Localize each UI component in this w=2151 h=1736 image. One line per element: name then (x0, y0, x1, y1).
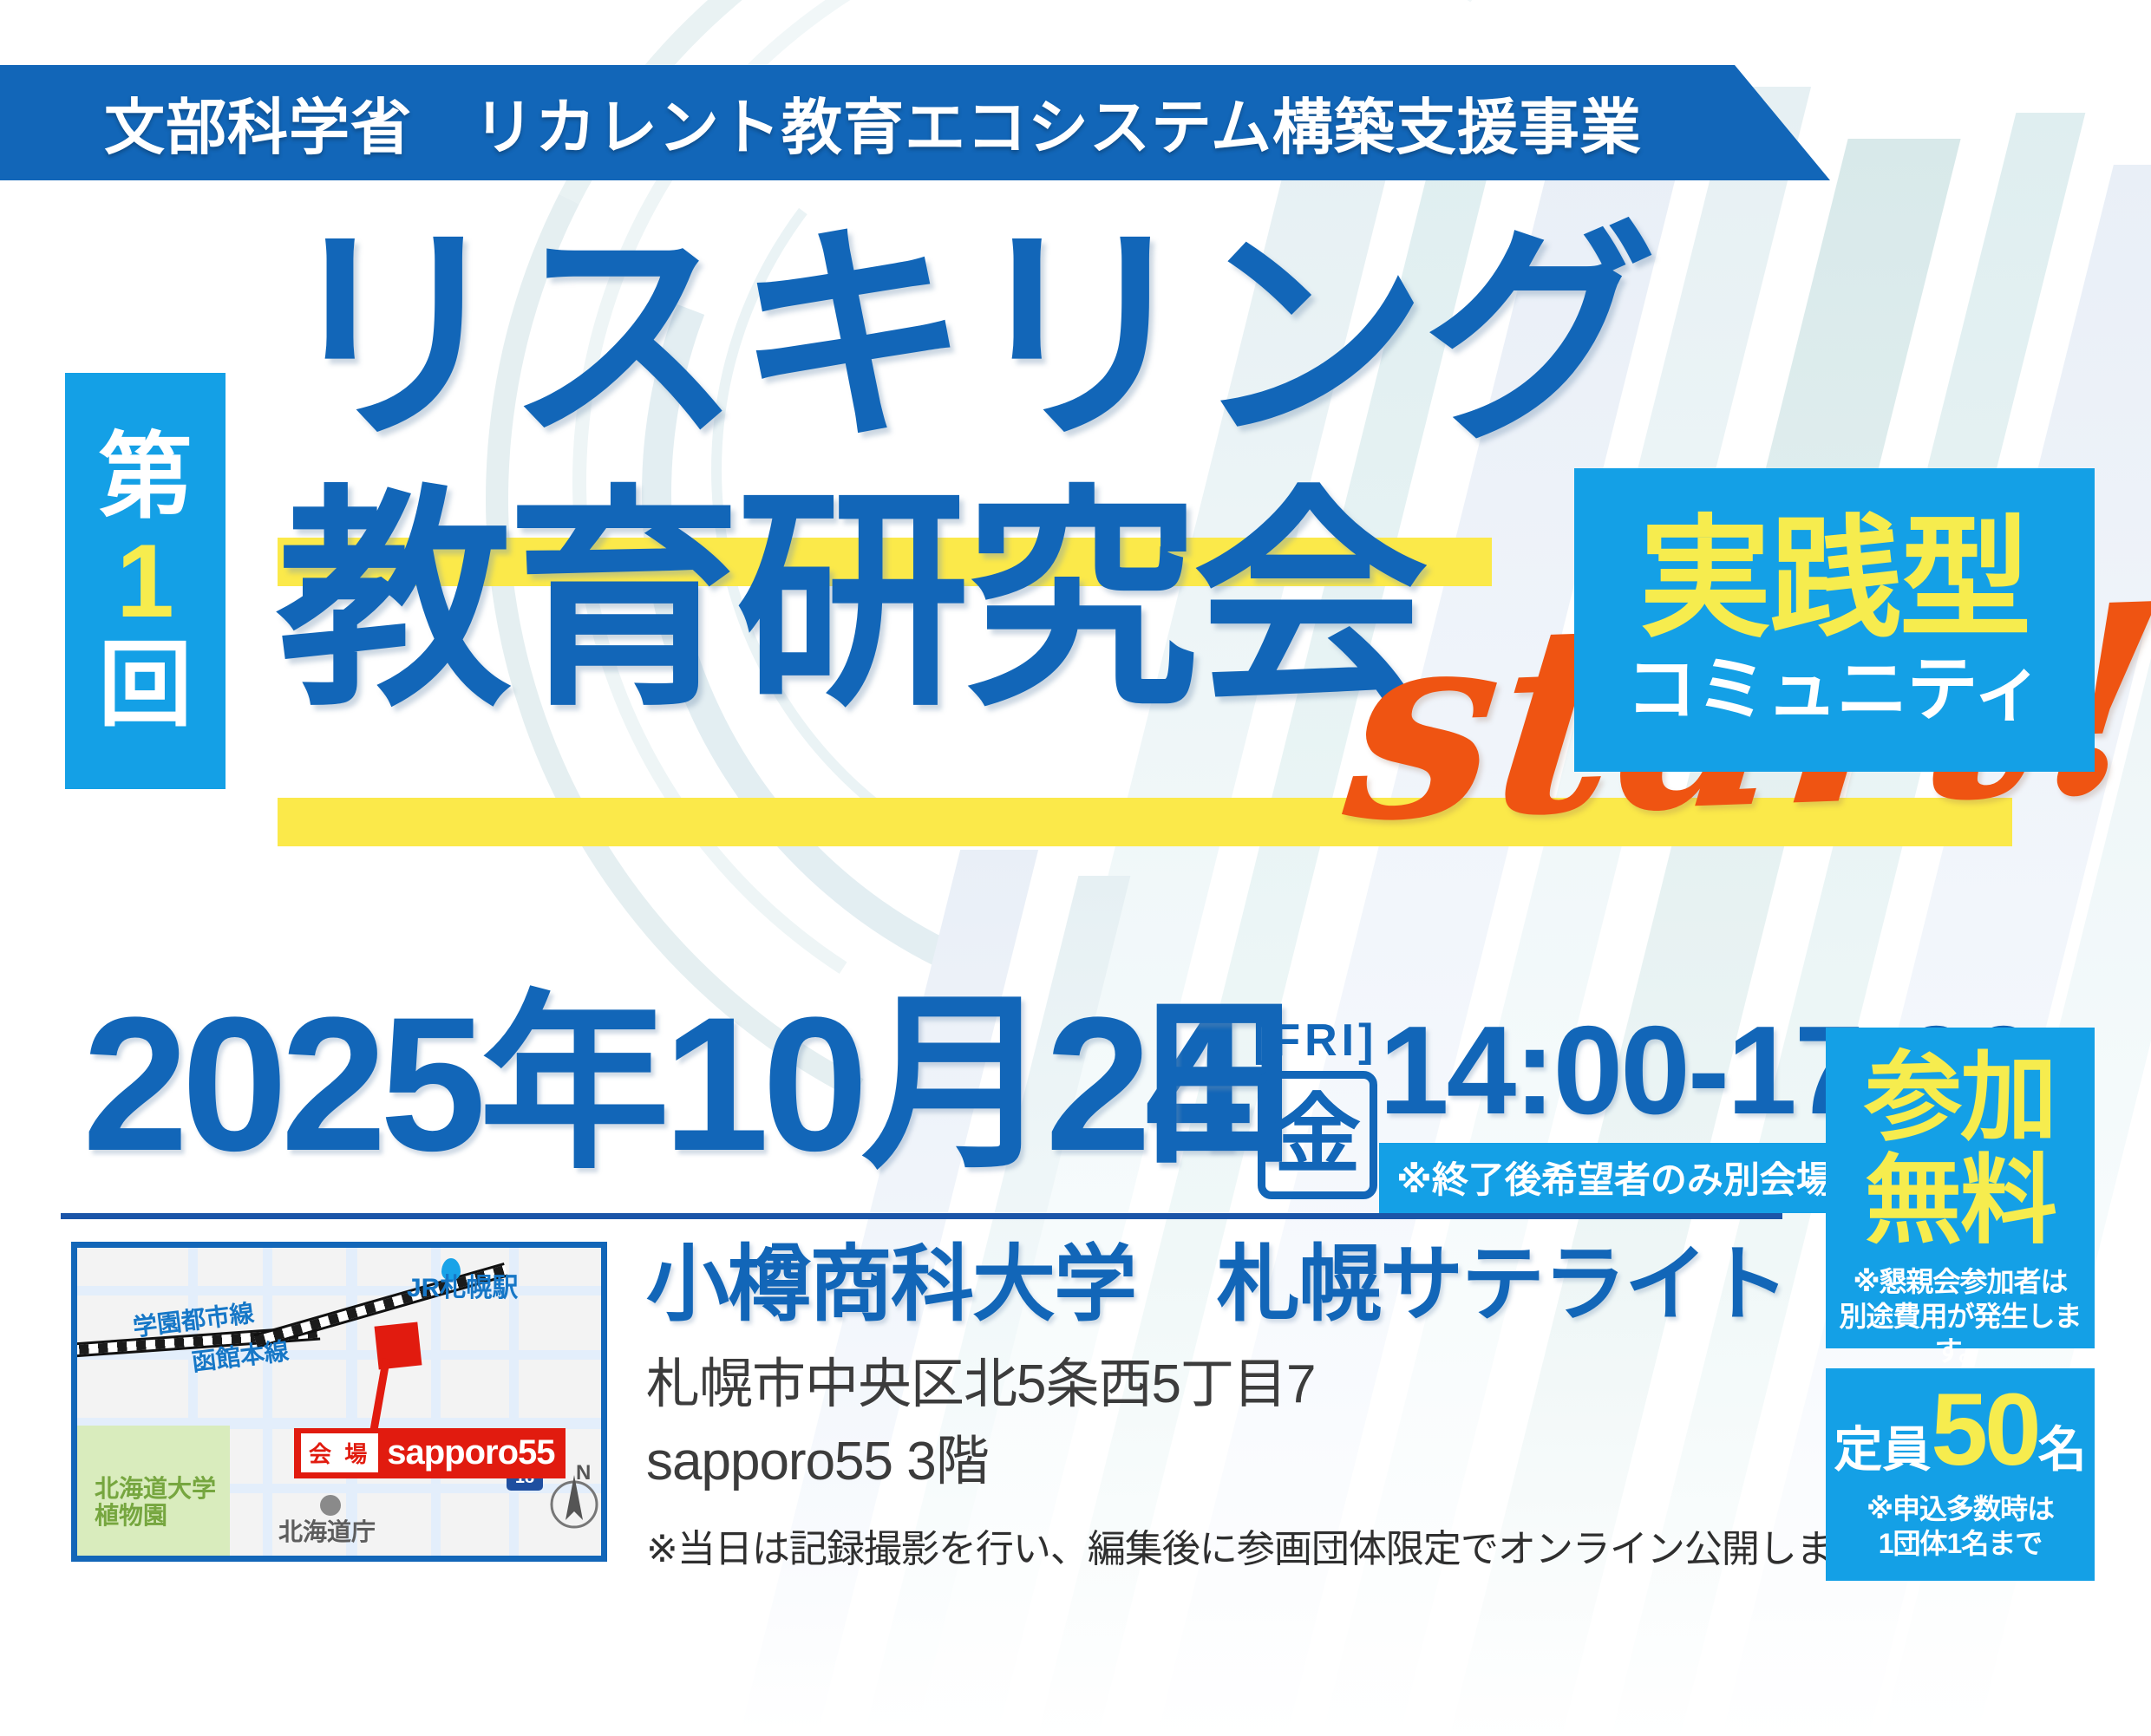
map-park-label: 北海道大学 植物園 (95, 1475, 216, 1530)
free-badge-note-2: 別途費用が発生します。 (1826, 1299, 2095, 1368)
capacity-label: 定員 (1834, 1426, 1931, 1474)
map-venue-callout: 会 場 sapporo55 (294, 1428, 566, 1478)
weekday-ja-badge: 金 (1258, 1071, 1377, 1199)
free-badge-note-1: ※懇親会参加者は (1853, 1264, 2067, 1299)
ministry-banner: 文部科学省 リカレント教育エコシステム構築支援事業 (0, 65, 1830, 180)
event-date: 2025年10月24 (82, 989, 1244, 1179)
map-road (77, 1286, 601, 1295)
community-badge: 実践型 コミュニティ (1574, 468, 2095, 772)
map-venue-tag: 会 場 (301, 1433, 378, 1472)
community-badge-big: 実践型 (1639, 511, 2030, 649)
weekday-en: [FRI] (1253, 1015, 1377, 1067)
capacity-number: 50 (1931, 1379, 2037, 1481)
poster-root: 文部科学省 リカレント教育エコシステム構築支援事業 第 1 回 リスキリング 教… (0, 0, 2151, 1736)
recording-note: ※当日は記録撮影を行い、編集後に参画団体限定でオンライン公開します (646, 1517, 1791, 1573)
map-station-label: JR札幌駅 (407, 1274, 518, 1303)
venue-address-line-1: 札幌市中央区北5条西5丁目7 (646, 1348, 1791, 1421)
map-road (346, 1248, 357, 1556)
venue-name: 小樽商科大学 札幌サテライト (646, 1242, 1791, 1329)
title-area: 第 1 回 リスキリング 教育研究会 start!! 実践型 コミュニティ (0, 199, 2151, 858)
map-poi-marker (320, 1495, 341, 1516)
section-divider (61, 1213, 1782, 1219)
venue-address-line-2: sapporo55 3階 (646, 1426, 1791, 1498)
title-line-1: リスキリング (278, 221, 1651, 455)
compass-north-label: N (576, 1461, 591, 1485)
venue-info: 小樽商科大学 札幌サテライト 札幌市中央区北5条西5丁目7 sapporo55 … (646, 1242, 1791, 1573)
capacity-note-1: ※申込多数時は (1867, 1491, 2054, 1526)
edition-suffix: 回 (98, 638, 192, 732)
edition-badge: 第 1 回 (65, 373, 226, 789)
map-venue-name: sapporo55 (387, 1433, 554, 1472)
venue-map: JR札幌駅 学園都市線 函館本線 会 場 sapporo55 北海道大学 植物園… (71, 1242, 607, 1562)
ministry-banner-text: 文部科学省 リカレント教育エコシステム構築支援事業 (104, 79, 1642, 166)
capacity-row: 定員 50 名 (1834, 1379, 2086, 1481)
capacity-note-2: 1団体1名まで (1879, 1526, 2043, 1561)
edition-number: 1 (116, 529, 174, 633)
free-badge-line-2: 無料 (1865, 1150, 2056, 1253)
community-badge-small: コミュニティ (1625, 651, 2043, 729)
capacity-unit: 名 (2038, 1426, 2087, 1474)
free-admission-badge: 参加 無料 ※懇親会参加者は 別途費用が発生します。 (1826, 1028, 2095, 1348)
free-badge-line-1: 参加 (1865, 1047, 2056, 1150)
map-road (263, 1248, 272, 1556)
edition-prefix: 第 (98, 430, 192, 524)
map-government-label: 北海道庁 (278, 1518, 376, 1545)
capacity-badge: 定員 50 名 ※申込多数時は 1団体1名まで (1826, 1368, 2095, 1581)
title-line-2: 教育研究会 (278, 486, 1422, 720)
